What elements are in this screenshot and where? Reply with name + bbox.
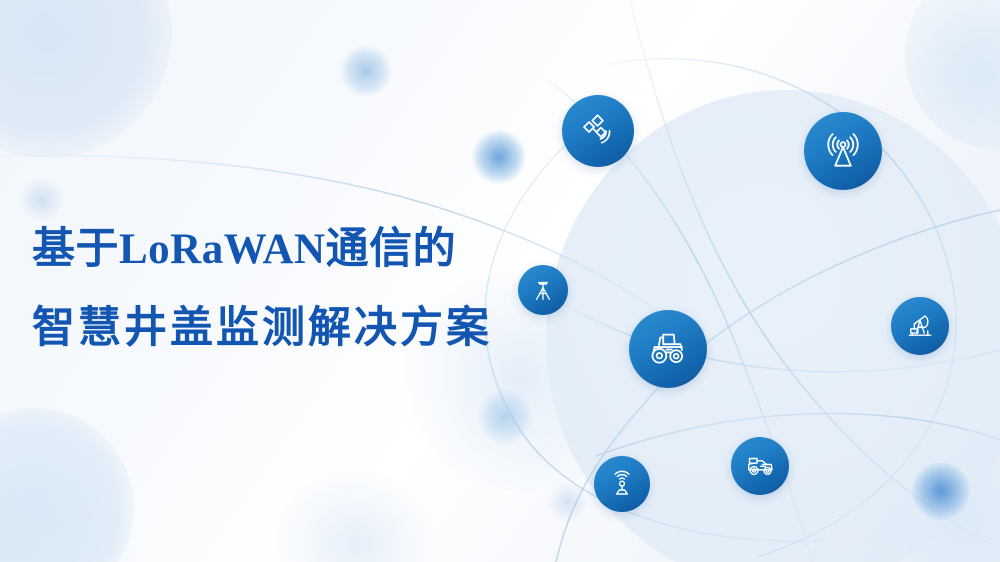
slide-title: 基于LoRaWAN通信的 智慧井盖监测解决方案 xyxy=(32,228,552,350)
harvester-icon xyxy=(742,448,778,484)
title-line-1: 基于LoRaWAN通信的 xyxy=(32,228,552,271)
node-tractor xyxy=(629,310,707,388)
wireless-sensor-icon xyxy=(606,468,638,500)
node-sensor xyxy=(594,456,650,512)
slide-canvas: 基于LoRaWAN通信的 智慧井盖监测解决方案 xyxy=(0,0,1000,562)
oil-pumpjack-icon xyxy=(903,309,937,343)
satellite-icon xyxy=(578,111,618,151)
node-satellite xyxy=(562,95,634,167)
title-line-2: 智慧井盖监测解决方案 xyxy=(32,307,552,350)
tractor-icon xyxy=(645,326,691,372)
node-antenna xyxy=(804,112,882,190)
radio-tower-icon xyxy=(821,129,865,173)
node-harvester xyxy=(731,437,789,495)
node-pumpjack xyxy=(891,297,949,355)
